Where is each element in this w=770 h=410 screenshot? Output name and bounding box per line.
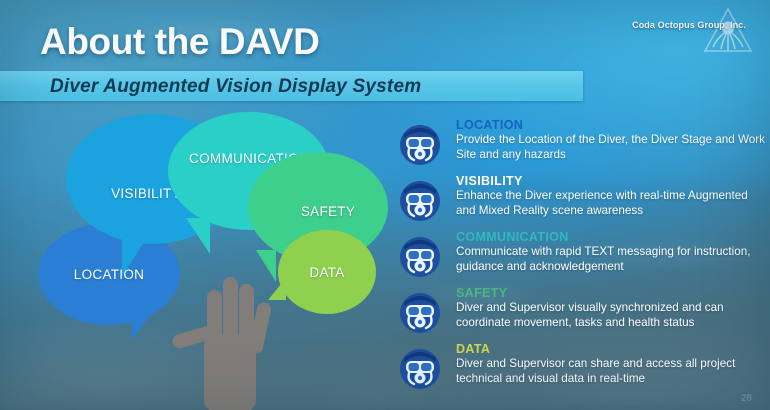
slide-subtitle: Diver Augmented Vision Display System xyxy=(50,76,421,98)
feature-heading: COMMUNICATION xyxy=(456,230,768,245)
diver-mask-icon xyxy=(398,179,442,223)
feature-heading: VISIBILITY xyxy=(456,174,768,189)
bubble-data-label: DATA xyxy=(309,265,344,280)
feature-description: Enhance the Diver experience with real-t… xyxy=(456,189,768,218)
octopus-triangle-icon xyxy=(702,6,754,54)
bubble-safety-label: SAFETY xyxy=(301,204,355,219)
bubble-location-tail xyxy=(132,310,154,340)
feature-description: Provide the Location of the Diver, the D… xyxy=(456,133,768,162)
bubble-data: DATA xyxy=(278,230,376,314)
company-logo: Coda Octopus Group, Inc. xyxy=(610,6,760,58)
slide-canvas: Coda Octopus Group, Inc. About the DAVD … xyxy=(0,0,770,410)
feature-description: Diver and Supervisor visually synchroniz… xyxy=(456,301,768,330)
feature-heading: DATA xyxy=(456,342,768,357)
bubble-visibility-tail xyxy=(122,230,152,276)
slide-title: About the DAVD xyxy=(40,21,319,63)
feature-list: LOCATION Provide the Location of the Div… xyxy=(396,118,770,398)
feature-item-safety: SAFETY Diver and Supervisor visually syn… xyxy=(396,286,770,342)
diver-mask-icon xyxy=(398,235,442,279)
diver-mask-icon xyxy=(398,291,442,335)
feature-item-communication: COMMUNICATION Communicate with rapid TEX… xyxy=(396,230,770,286)
feature-item-location: LOCATION Provide the Location of the Div… xyxy=(396,118,770,174)
feature-description: Communicate with rapid TEXT messaging fo… xyxy=(456,245,768,274)
feature-description: Diver and Supervisor can share and acces… xyxy=(456,357,768,386)
feature-item-visibility: VISIBILITY Enhance the Diver experience … xyxy=(396,174,770,230)
diver-mask-icon xyxy=(398,123,442,167)
bubble-data-tail xyxy=(268,278,286,300)
bubble-communication-tail xyxy=(186,218,210,254)
feature-item-data: DATA Diver and Supervisor can share and … xyxy=(396,342,770,398)
company-logo-text: Coda Octopus Group, Inc. xyxy=(632,20,746,30)
feature-heading: LOCATION xyxy=(456,118,768,133)
feature-heading: SAFETY xyxy=(456,286,768,301)
page-number: 28 xyxy=(741,393,752,404)
diver-mask-icon xyxy=(398,347,442,391)
